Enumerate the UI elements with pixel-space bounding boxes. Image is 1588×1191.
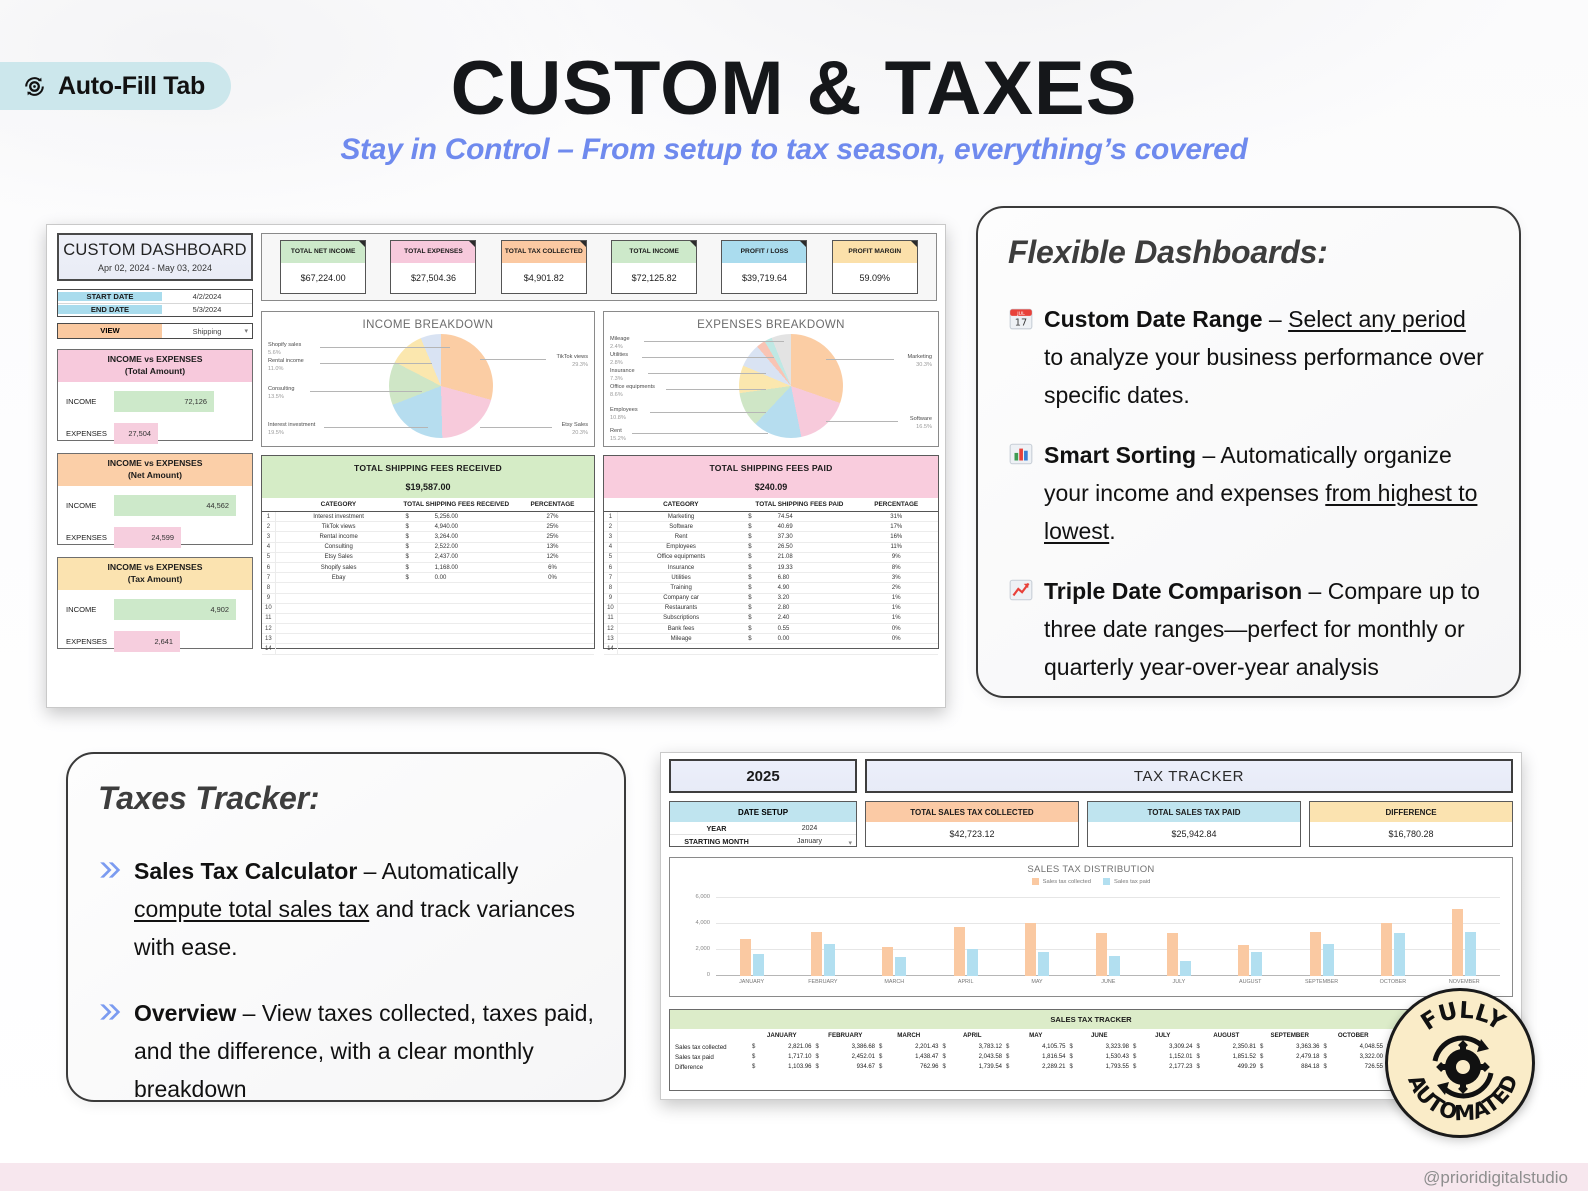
expenses-pie-slices — [739, 334, 843, 438]
custom-dashboard-screenshot[interactable]: CUSTOM DASHBOARD Apr 02, 2024 - May 03, … — [46, 224, 946, 708]
month-header: JULY — [1131, 1029, 1195, 1042]
table-row: 7Ebay$0.000% — [262, 573, 594, 583]
page-title: CUSTOM & TAXES — [0, 45, 1588, 132]
view-selector[interactable]: VIEW Shipping ▾ — [57, 323, 253, 339]
taxes-tracker-heading: Taxes Tracker: — [98, 780, 594, 817]
pie-label-tiktok-views: TikTok views29.3% — [557, 354, 589, 369]
expenses-breakdown-title: EXPENSES BREAKDOWN — [604, 312, 938, 331]
kpi-label: TOTAL NET INCOME — [281, 241, 365, 263]
pie-label-software: Software16.5% — [910, 416, 932, 431]
table-row: 2TikTok views$4,940.0025% — [262, 522, 594, 532]
ive-tax-subtitle: (Tax Amount) — [128, 574, 182, 584]
month-header: MAY — [1004, 1029, 1068, 1042]
shipping-paid-table: CATEGORY TOTAL SHIPPING FEES PAID PERCEN… — [604, 498, 938, 655]
kpi-value: $72,125.82 — [612, 263, 696, 293]
total-sales-tax-paid-card: TOTAL SALES TAX PAID $25,942.84 — [1087, 801, 1301, 847]
taxes-tracker-card: Taxes Tracker: Sales Tax Calculator – Au… — [66, 752, 626, 1102]
double-chevron-icon — [98, 857, 124, 883]
bullet-text: Smart Sorting – Automatically organize y… — [1044, 437, 1489, 551]
ive-total-header: INCOME vs EXPENSES (Total Amount) — [58, 350, 252, 382]
expenses-label: EXPENSES — [66, 637, 114, 646]
pie-label-shopify-sales: Shopify sales5.6% — [268, 342, 301, 357]
bar-group-july: JULY — [1143, 898, 1214, 976]
start-date-value[interactable]: 4/2/2024 — [162, 292, 252, 301]
bullet-title: Overview — [134, 1000, 236, 1026]
bar-group-april: APRIL — [930, 898, 1001, 976]
table-row: 3Rental income$3,264.0025% — [262, 532, 594, 542]
fully-automated-badge: FULLY AUTOMATED — [1385, 988, 1535, 1138]
kpi-value: $4,901.82 — [502, 263, 586, 293]
table-header-row: JANUARY FEBRUARY MARCH APRIL MAY JUNE JU… — [670, 1029, 1512, 1042]
leader-line — [632, 433, 768, 434]
chevron-down-icon[interactable]: ▾ — [244, 327, 248, 335]
leader-line — [648, 373, 766, 374]
bar-group-may: MAY — [1001, 898, 1072, 976]
view-value[interactable]: Shipping ▾ — [162, 327, 252, 336]
leader-line — [666, 389, 766, 390]
income-label: INCOME — [66, 605, 114, 614]
year-label: YEAR — [670, 824, 763, 833]
income-bar: 72,126 — [114, 391, 214, 412]
ive-net-expenses-row: EXPENSES 24,599 — [66, 527, 244, 548]
col-amount: TOTAL SHIPPING FEES PAID — [744, 498, 854, 512]
tax-year-badge: 2025 — [669, 759, 857, 793]
flexible-dashboards-card: Flexible Dashboards: JUL 17 Custom Date … — [976, 206, 1521, 698]
bar-group-march: MARCH — [859, 898, 930, 976]
table-header-row: CATEGORY TOTAL SHIPPING FEES PAID PERCEN… — [604, 498, 938, 512]
month-header: MARCH — [877, 1029, 941, 1042]
shipping-received-title: TOTAL SHIPPING FEES RECEIVED — [262, 463, 594, 473]
leader-line — [480, 359, 546, 360]
note-corner-icon — [359, 241, 365, 247]
starting-month-selected: January — [797, 838, 822, 845]
legend-swatch — [1103, 878, 1110, 885]
date-setup-header: DATE SETUP — [670, 802, 856, 822]
month-header: AUGUST — [1195, 1029, 1259, 1042]
legend-paid: Sales tax paid — [1103, 878, 1150, 885]
sales-tax-distribution-chart: SALES TAX DISTRIBUTION Sales tax collect… — [669, 857, 1513, 997]
pie-label-consulting: Consulting13.5% — [268, 386, 294, 401]
note-corner-icon — [469, 241, 475, 247]
kpi-card-profit-margin: PROFIT MARGIN 59.09% — [832, 240, 918, 294]
expenses-bar: 27,504 — [114, 423, 158, 444]
ive-net-title: INCOME vs EXPENSES — [107, 458, 202, 468]
leader-line — [826, 359, 894, 360]
calendar-icon: JUL 17 — [1008, 305, 1034, 331]
flexible-dashboards-heading: Flexible Dashboards: — [1008, 234, 1489, 271]
kpi-value: $39,719.64 — [722, 263, 806, 293]
leader-line — [642, 357, 774, 358]
ive-total-title: INCOME vs EXPENSES — [107, 354, 202, 364]
leader-line — [324, 427, 428, 428]
leader-line — [320, 363, 432, 364]
table-row: 1Marketing$74.5431% — [604, 512, 938, 522]
table-row: 12 — [262, 624, 594, 634]
start-date-row[interactable]: START DATE 4/2/2024 — [58, 290, 252, 304]
table-row: 10 — [262, 603, 594, 613]
pie-label-office-equipments: Office equipments8.6% — [610, 384, 655, 399]
end-date-value[interactable]: 5/3/2024 — [162, 305, 252, 314]
bar-group-january: JANUARY — [716, 898, 787, 976]
kpi-strip: TOTAL NET INCOME $67,224.00 TOTAL EXPENS… — [261, 233, 937, 301]
month-header: APRIL — [941, 1029, 1005, 1042]
bar-chart-legend: Sales tax collected Sales tax paid — [670, 878, 1512, 885]
expenses-pie — [739, 334, 843, 438]
table-row: 8 — [262, 583, 594, 593]
bar-group-september: SEPTEMBER — [1286, 898, 1357, 976]
kpi-value: $27,504.36 — [391, 263, 475, 293]
table-row: 6Shopify sales$1,168.006% — [262, 562, 594, 572]
table-row: 14 — [604, 644, 938, 654]
date-setup-box[interactable]: START DATE 4/2/2024 END DATE 5/3/2024 — [57, 289, 253, 317]
difference-card: DIFFERENCE $16,780.28 — [1309, 801, 1513, 847]
leader-line — [320, 347, 450, 348]
table-row: 9 — [262, 593, 594, 603]
view-selected-option: Shipping — [193, 327, 222, 336]
row-index-header — [604, 498, 617, 512]
bullet-title: Sales Tax Calculator — [134, 858, 357, 884]
pie-label-rent: Rent15.2% — [610, 428, 626, 443]
kpi-value: $67,224.00 — [281, 263, 365, 293]
ive-total-subtitle: (Total Amount) — [125, 366, 185, 376]
income-bar: 4,902 — [114, 599, 236, 620]
income-breakdown-chart: INCOME BREAKDOWN Shopify sales5.6% Renta… — [261, 311, 595, 447]
pie-label-utilities: Utilities2.8% — [610, 352, 628, 367]
income-vs-expenses-tax: INCOME vs EXPENSES (Tax Amount) INCOME 4… — [57, 557, 253, 649]
month-header: SEPTEMBER — [1258, 1029, 1322, 1042]
bullet-title: Smart Sorting — [1044, 442, 1196, 468]
date-setup-grid[interactable]: DATE SETUP YEAR 2024 STARTING MONTH Janu… — [669, 801, 857, 847]
table-row: 14 — [262, 644, 594, 654]
month-header: JANUARY — [750, 1029, 814, 1042]
table-row: 9Company car$3.201% — [604, 593, 938, 603]
bullet-overview: Overview – View taxes collected, taxes p… — [98, 995, 594, 1109]
expenses-label: EXPENSES — [66, 533, 114, 542]
table-row: 5Office equipments$21.089% — [604, 552, 938, 562]
pie-label-insurance: Insurance7.3% — [610, 368, 635, 383]
note-corner-icon — [580, 241, 586, 247]
note-corner-icon — [690, 241, 696, 247]
ive-total-income-row: INCOME 72,126 — [66, 391, 244, 412]
pie-label-marketing: Marketing30.3% — [907, 354, 932, 369]
view-label: VIEW — [58, 324, 162, 338]
kpi-card-total-net-income: TOTAL NET INCOME $67,224.00 — [280, 240, 366, 294]
income-label: INCOME — [66, 501, 114, 510]
note-corner-icon — [911, 241, 917, 247]
table-row: 4Consulting$2,522.0013% — [262, 542, 594, 552]
table-row: 13 — [262, 634, 594, 644]
ive-tax-header: INCOME vs EXPENSES (Tax Amount) — [58, 558, 252, 590]
bar-group-august: AUGUST — [1215, 898, 1286, 976]
income-vs-expenses-total: INCOME vs EXPENSES (Total Amount) INCOME… — [57, 349, 253, 441]
bullet-sales-tax-calculator: Sales Tax Calculator – Automatically com… — [98, 853, 594, 967]
studio-handle: @prioridigitalstudio — [1423, 1168, 1568, 1188]
table-row: 6Insurance$19.338% — [604, 562, 938, 572]
kpi-label: TOTAL EXPENSES — [391, 241, 475, 263]
expenses-label: EXPENSES — [66, 429, 114, 438]
end-date-label: END DATE — [58, 305, 162, 314]
income-label: INCOME — [66, 397, 114, 406]
trend-up-icon — [1008, 577, 1034, 603]
shipping-paid-total: $240.09 — [604, 482, 938, 492]
row-label-header — [670, 1029, 750, 1042]
card-label: TOTAL SALES TAX PAID — [1088, 802, 1300, 822]
ive-tax-title: INCOME vs EXPENSES — [107, 562, 202, 572]
bullet-text: Triple Date Comparison – Compare up to t… — [1044, 573, 1489, 687]
starting-month-row[interactable]: STARTING MONTH January ▾ — [670, 835, 856, 848]
footer-bar — [0, 1163, 1588, 1191]
kpi-card-total-income: TOTAL INCOME $72,125.82 — [611, 240, 697, 294]
leader-line — [480, 427, 552, 428]
bullet-text: Custom Date Range – Select any period to… — [1044, 301, 1489, 415]
income-pie-slices — [389, 334, 493, 438]
double-chevron-icon — [98, 999, 124, 1025]
bar-group-june: JUNE — [1073, 898, 1144, 976]
table-row: 7Utilities$6.803% — [604, 573, 938, 583]
kpi-label: TOTAL INCOME — [612, 241, 696, 263]
starting-month-value[interactable]: January ▾ — [763, 838, 856, 845]
pie-label-mileage: Mileage2.4% — [610, 336, 630, 351]
table-row: 3Rent$37.3016% — [604, 532, 938, 542]
card-value: $42,723.12 — [866, 822, 1078, 846]
bullet-smart-sorting: Smart Sorting – Automatically organize y… — [1008, 437, 1489, 551]
year-row[interactable]: YEAR 2024 — [670, 822, 856, 835]
month-header: FEBRUARY — [814, 1029, 878, 1042]
ive-tax-expenses-row: EXPENSES 2,641 — [66, 631, 244, 652]
bullet-title: Triple Date Comparison — [1044, 578, 1302, 604]
shipping-fees-received-panel: TOTAL SHIPPING FEES RECEIVED $19,587.00 … — [261, 455, 595, 649]
col-category: CATEGORY — [275, 498, 401, 512]
income-breakdown-title: INCOME BREAKDOWN — [262, 312, 594, 331]
table-row: 12Bank fees$0.550% — [604, 624, 938, 634]
shipping-received-body: 1Interest investment$5,256.0027% 2TikTok… — [262, 512, 594, 655]
leader-line — [826, 421, 898, 422]
table-row: 2Software$40.6917% — [604, 522, 938, 532]
expenses-breakdown-chart: EXPENSES BREAKDOWN Mileage2.4% Utilities… — [603, 311, 939, 447]
chevron-down-icon[interactable]: ▾ — [848, 839, 852, 847]
kpi-label: PROFIT MARGIN — [833, 241, 917, 263]
dashboard-title-card: CUSTOM DASHBOARD Apr 02, 2024 - May 03, … — [57, 233, 253, 281]
page-subtitle: Stay in Control – From setup to tax seas… — [0, 133, 1588, 167]
income-vs-expenses-net: INCOME vs EXPENSES (Net Amount) INCOME 4… — [57, 453, 253, 545]
ive-net-income-row: INCOME 44,562 — [66, 495, 244, 516]
col-percentage: PERCENTAGE — [855, 498, 939, 512]
row-index-header — [262, 498, 275, 512]
shipping-received-total: $19,587.00 — [262, 482, 594, 492]
col-category: CATEGORY — [617, 498, 744, 512]
col-percentage: PERCENTAGE — [511, 498, 594, 512]
bullet-title: Custom Date Range — [1044, 306, 1263, 332]
sales-tax-tracker-title: SALES TAX TRACKER — [670, 1010, 1512, 1029]
month-header: OCTOBER — [1322, 1029, 1386, 1042]
table-row: 13Mileage$0.000% — [604, 634, 938, 644]
table-row: 1Interest investment$5,256.0027% — [262, 512, 594, 522]
table-row: 11 — [262, 613, 594, 623]
shipping-fees-paid-panel: TOTAL SHIPPING FEES PAID $240.09 CATEGOR… — [603, 455, 939, 649]
ive-net-header: INCOME vs EXPENSES (Net Amount) — [58, 454, 252, 486]
start-date-label: START DATE — [58, 292, 162, 301]
note-corner-icon — [800, 241, 806, 247]
bar-group-november: NOVEMBER — [1429, 898, 1500, 976]
bar-chart-title: SALES TAX DISTRIBUTION — [670, 858, 1512, 875]
card-value: $25,942.84 — [1088, 822, 1300, 846]
kpi-card-total-tax-collected: TOTAL TAX COLLECTED $4,901.82 — [501, 240, 587, 294]
expenses-bar: 2,641 — [114, 631, 180, 652]
bar-group-october: OCTOBER — [1357, 898, 1428, 976]
total-sales-tax-collected-card: TOTAL SALES TAX COLLECTED $42,723.12 — [865, 801, 1079, 847]
kpi-label: TOTAL TAX COLLECTED — [502, 241, 586, 263]
shipping-paid-title: TOTAL SHIPPING FEES PAID — [604, 463, 938, 473]
table-row: 10Restaurants$2.801% — [604, 603, 938, 613]
svg-text:JUL: JUL — [1016, 311, 1025, 317]
month-header: JUNE — [1068, 1029, 1132, 1042]
table-row: 4Employees$26.5011% — [604, 542, 938, 552]
table-header-row: CATEGORY TOTAL SHIPPING FEES RECEIVED PE… — [262, 498, 594, 512]
shipping-paid-body: 1Marketing$74.5431% 2Software$40.6917% 3… — [604, 512, 938, 655]
tax-tracker-title: TAX TRACKER — [865, 759, 1513, 793]
dashboard-title: CUSTOM DASHBOARD — [63, 241, 247, 260]
shipping-received-table: CATEGORY TOTAL SHIPPING FEES RECEIVED PE… — [262, 498, 594, 655]
bullet-text: Overview – View taxes collected, taxes p… — [134, 995, 594, 1109]
bullet-text: Sales Tax Calculator – Automatically com… — [134, 853, 594, 967]
shipping-received-header: TOTAL SHIPPING FEES RECEIVED $19,587.00 — [262, 456, 594, 498]
pie-label-rental-income: Rental income11.0% — [268, 358, 304, 373]
card-value: $16,780.28 — [1310, 822, 1512, 846]
pie-label-interest-investment: Interest investment19.5% — [268, 422, 315, 437]
bar-chart-icon — [1008, 441, 1034, 467]
shipping-paid-header: TOTAL SHIPPING FEES PAID $240.09 — [604, 456, 938, 498]
bar-plot-area: 6,000 4,000 2,000 0 JANUARY FEBRUARY MAR… — [716, 898, 1500, 976]
income-bar: 44,562 — [114, 495, 236, 516]
kpi-card-total-expenses: TOTAL EXPENSES $27,504.36 — [390, 240, 476, 294]
table-row: 8Training$4.902% — [604, 583, 938, 593]
pie-label-employees: Employees10.8% — [610, 407, 638, 422]
leader-line — [310, 391, 422, 392]
kpi-card-profit-loss: PROFIT / LOSS $39,719.64 — [721, 240, 807, 294]
table-row: 5Etsy Sales$2,437.0012% — [262, 552, 594, 562]
svg-text:FULLY: FULLY — [1417, 998, 1510, 1036]
bullet-triple-date-comparison: Triple Date Comparison – Compare up to t… — [1008, 573, 1489, 687]
kpi-label: PROFIT / LOSS — [722, 241, 806, 263]
end-date-row[interactable]: END DATE 5/3/2024 — [58, 304, 252, 317]
ive-total-expenses-row: EXPENSES 27,504 — [66, 423, 244, 444]
legend-collected: Sales tax collected — [1032, 878, 1091, 885]
svg-text:17: 17 — [1015, 318, 1027, 329]
year-value[interactable]: 2024 — [763, 825, 856, 832]
ive-net-subtitle: (Net Amount) — [128, 470, 182, 480]
bar-group-february: FEBRUARY — [787, 898, 858, 976]
table-row: 11Subscriptions$2.401% — [604, 613, 938, 623]
leader-line — [650, 412, 766, 413]
card-label: DIFFERENCE — [1310, 802, 1512, 822]
card-label: TOTAL SALES TAX COLLECTED — [866, 802, 1078, 822]
leader-line — [644, 341, 784, 342]
pie-label-etsy-sales: Etsy Sales20.3% — [562, 422, 588, 437]
dashboard-date-range: Apr 02, 2024 - May 03, 2024 — [98, 263, 212, 273]
expenses-bar: 24,599 — [114, 527, 181, 548]
col-amount: TOTAL SHIPPING FEES RECEIVED — [401, 498, 511, 512]
legend-swatch — [1032, 878, 1039, 885]
bullet-custom-date-range: JUL 17 Custom Date Range – Select any pe… — [1008, 301, 1489, 415]
ive-tax-income-row: INCOME 4,902 — [66, 599, 244, 620]
income-pie — [389, 334, 493, 438]
starting-month-label: STARTING MONTH — [670, 837, 763, 846]
kpi-value: 59.09% — [833, 263, 917, 293]
